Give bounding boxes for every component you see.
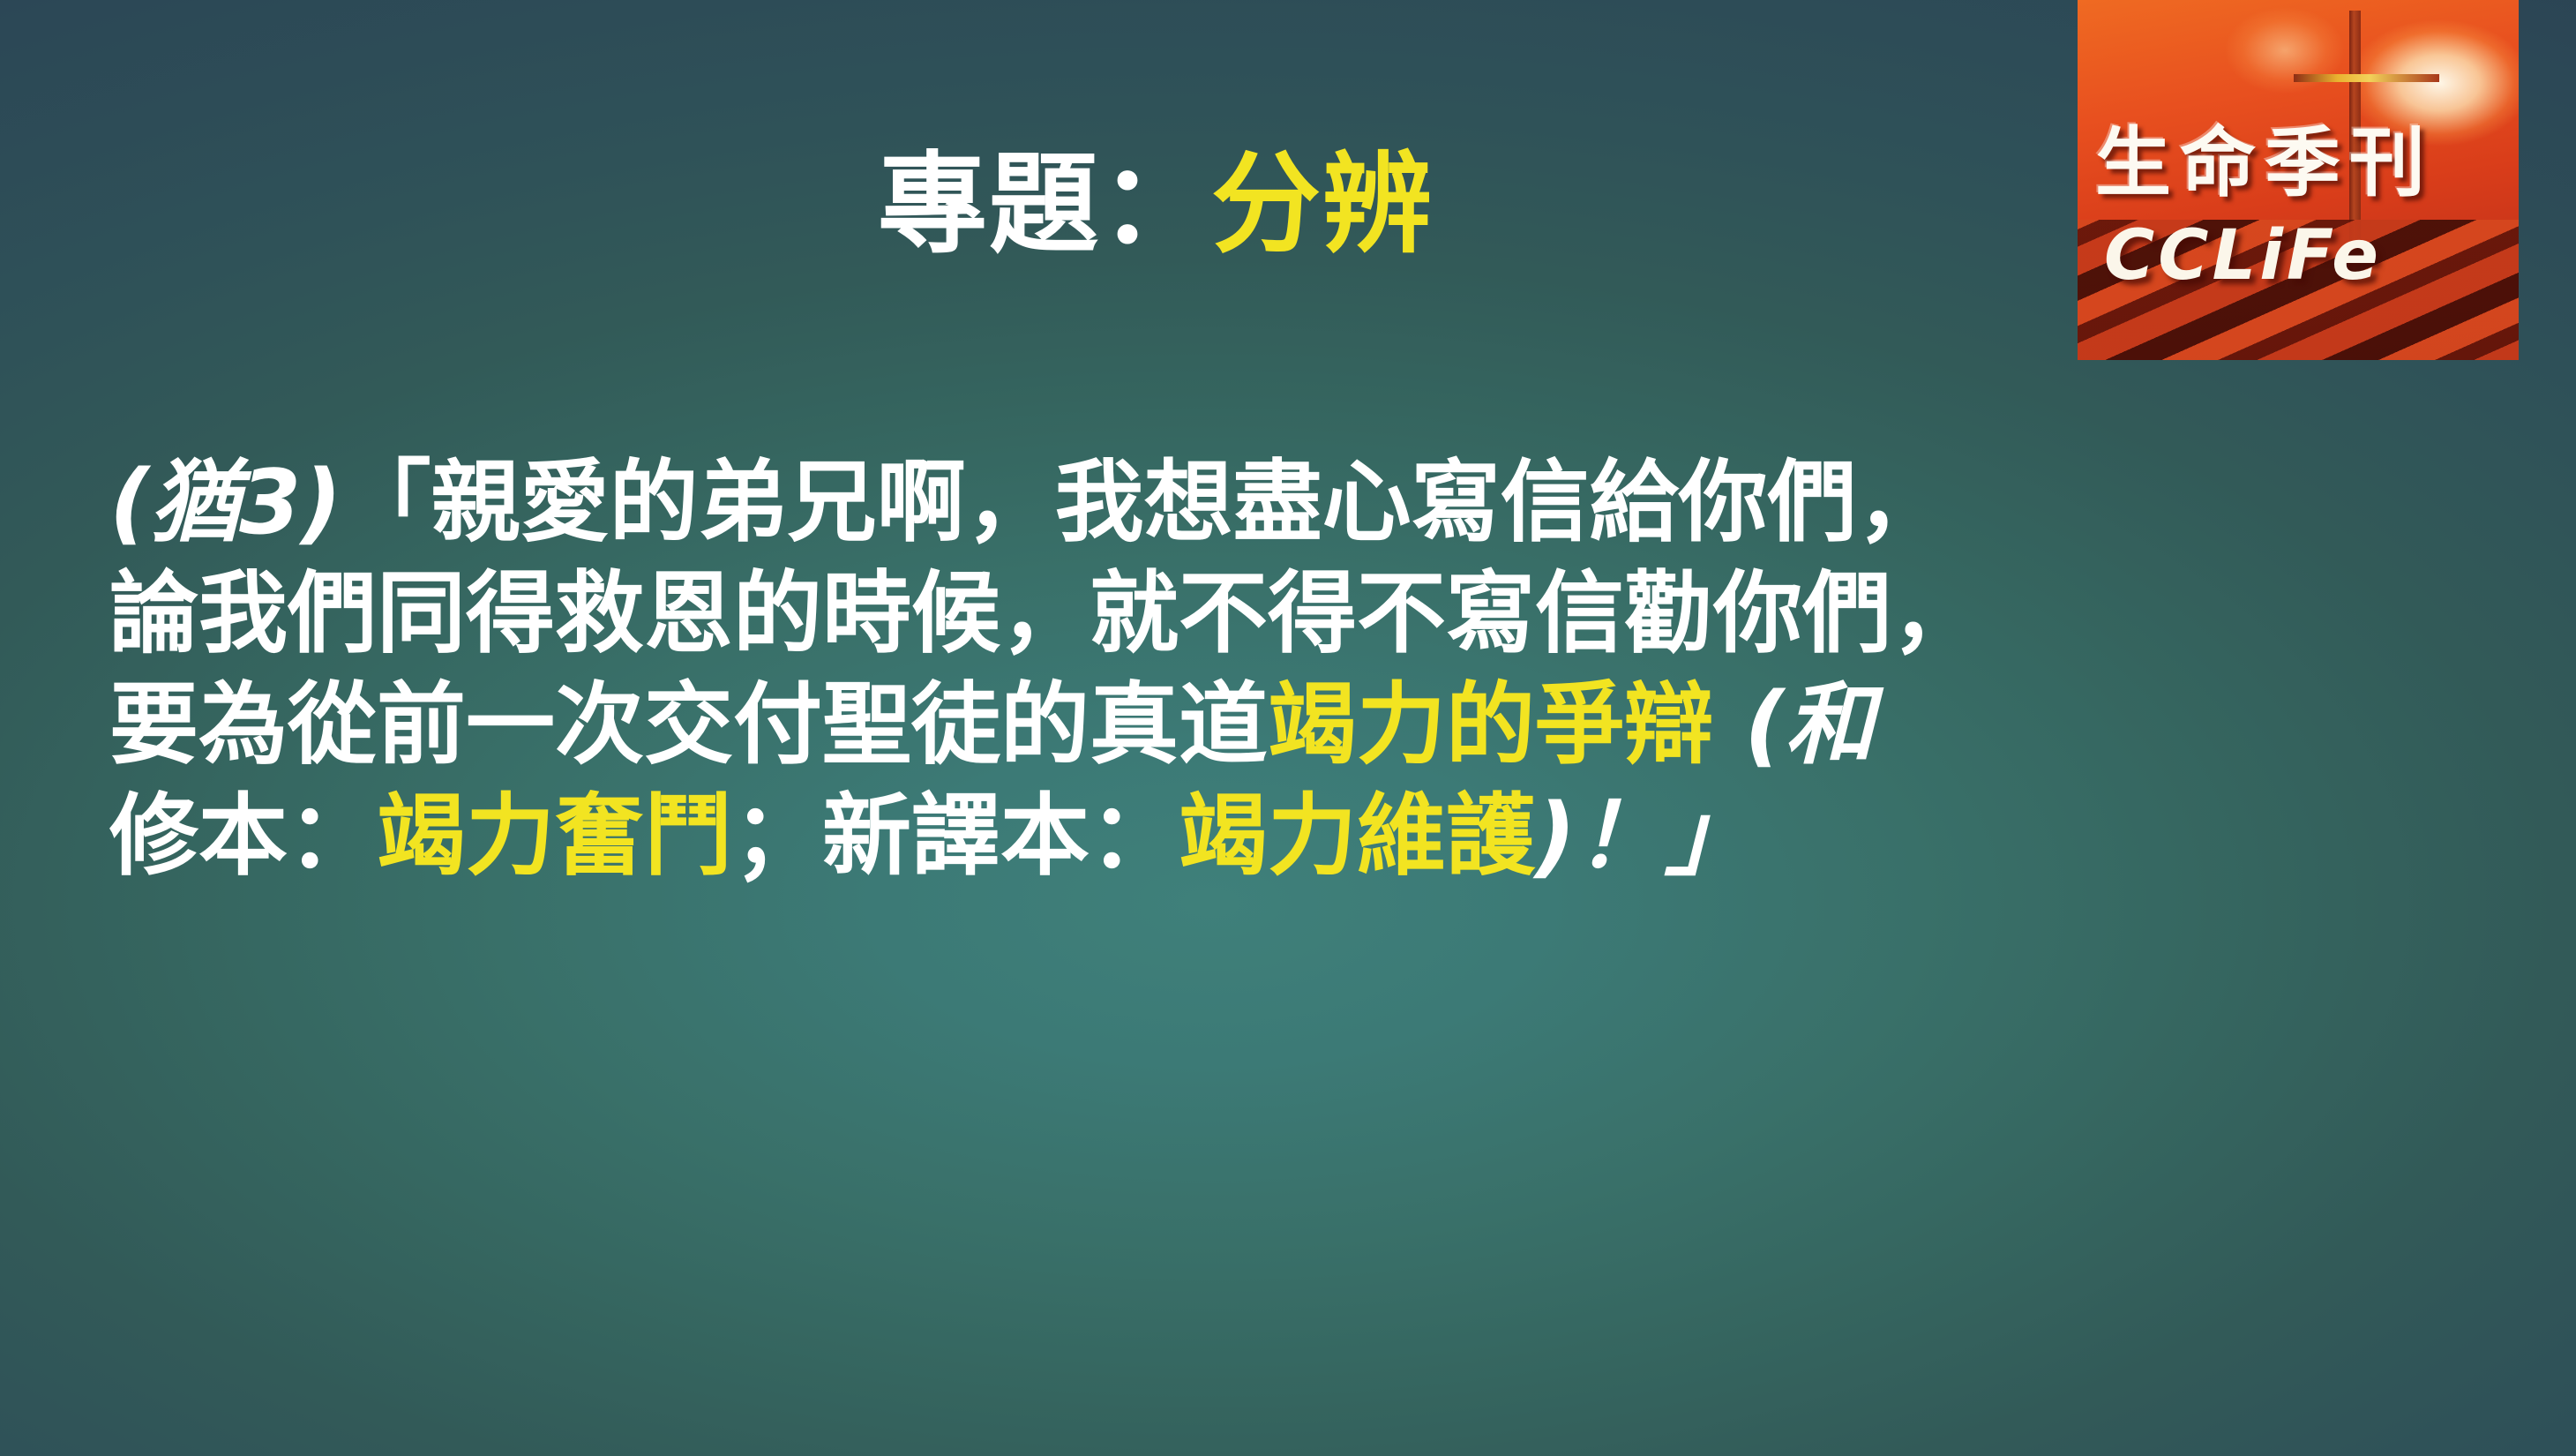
slide-title: 專題：分辨 xyxy=(0,148,2576,262)
scripture-highlight: 竭力的爭辯 xyxy=(1268,672,1713,777)
presentation-slide: 生命季刊 CCLiFe 專題：分辨 (猶3)「親愛的弟兄啊，我想盡心寫信給你們，… xyxy=(0,0,2576,1456)
scripture-note: )！」 xyxy=(1535,784,1754,888)
slide-title-prefix: 專題： xyxy=(878,141,1211,268)
scripture-body-text: (猶3)「親愛的弟兄啊，我想盡心寫信給你們， 論我們同得救恩的時候，就不得不寫信… xyxy=(109,447,2209,891)
scripture-text: 論我們同得救恩的時候，就不得不寫信勸你們， xyxy=(109,561,1981,665)
scripture-line: 要為從前一次交付聖徒的真道竭力的爭辯 (和 xyxy=(109,669,2209,780)
scripture-line: 論我們同得救恩的時候，就不得不寫信勸你們， xyxy=(109,558,2209,669)
scripture-highlight: 竭力奮鬥 xyxy=(377,784,733,888)
scripture-text: 「親愛的弟兄啊，我想盡心寫信給你們， xyxy=(342,450,1946,554)
scripture-note: (和 xyxy=(1713,672,1874,777)
scripture-reference: (猶3) xyxy=(109,450,342,554)
scripture-line: 修本：竭力奮鬥；新譯本：竭力維護)！」 xyxy=(109,780,2209,891)
scripture-text: ；新譯本： xyxy=(733,784,1179,888)
cross-horizontal-beam-icon xyxy=(2294,74,2439,82)
scripture-text: 修本： xyxy=(109,784,377,888)
slide-title-highlight: 分辨 xyxy=(1211,141,1434,268)
scripture-highlight: 竭力維護 xyxy=(1179,784,1535,888)
scripture-text: 要為從前一次交付聖徒的真道 xyxy=(109,672,1268,777)
scripture-line: (猶3)「親愛的弟兄啊，我想盡心寫信給你們， xyxy=(109,447,2209,558)
